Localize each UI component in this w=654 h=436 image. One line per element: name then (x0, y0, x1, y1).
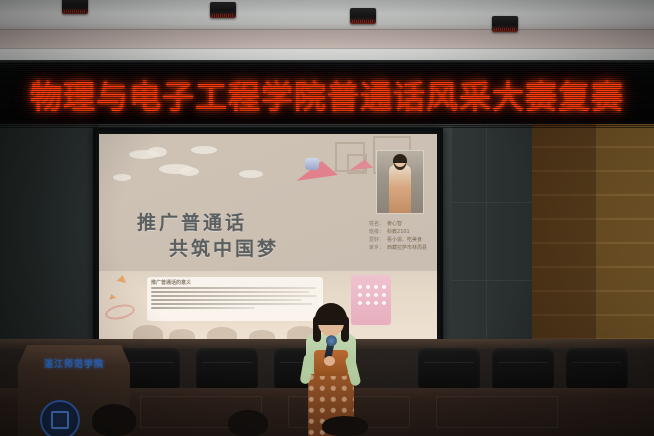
info-value: 看小说、吃美食 (387, 236, 422, 244)
info-row: 爱好： 看小说、吃美食 (369, 236, 437, 244)
info-label: 姓名： (369, 220, 384, 228)
photo-hair (393, 154, 407, 163)
star-icon (108, 293, 116, 300)
ceiling-speaker-icon (350, 8, 376, 24)
presenter-photo (376, 150, 424, 214)
projection-screen-frame: 推广普通话 共筑中国梦 姓名： 姜心智 班级： 科教2101 爱好： 看小说、吃… (93, 128, 443, 349)
star-icon (116, 274, 127, 283)
chair (418, 348, 480, 388)
cloud-decoration (147, 147, 167, 157)
info-value: 姜心智 (387, 220, 402, 228)
table-panel (436, 396, 558, 428)
info-label: 班级： (369, 228, 384, 236)
slide-title-line2: 共筑中国梦 (169, 234, 279, 261)
ceiling-speaker-icon (62, 0, 88, 14)
chair (196, 348, 258, 388)
plane-rider-figure (305, 158, 319, 170)
speaker-hand (324, 356, 335, 366)
led-banner-text: 物理与电子工程学院普通话风采大赛复赛 (30, 72, 624, 118)
cloud-decoration (179, 167, 199, 176)
photo-body (389, 165, 411, 213)
speaker-hair (315, 303, 347, 325)
led-banner: 物理与电子工程学院普通话风采大赛复赛 (0, 60, 654, 130)
ceiling-seam (0, 29, 654, 30)
slide-lower-panel: 推广普通话的意义 (99, 271, 437, 343)
presenter-info-block: 姓名： 姜心智 班级： 科教2101 爱好： 看小说、吃美食 家乡： 西藏拉萨市… (369, 220, 437, 252)
meaning-heading: 推广普通话的意义 (151, 279, 191, 286)
ceiling-band (0, 30, 654, 48)
info-label: 家乡： (369, 244, 384, 252)
ceiling (0, 0, 654, 62)
school-emblem-icon (40, 400, 80, 436)
info-label: 爱好： (369, 236, 384, 244)
projection-screen: 推广普通话 共筑中国梦 姓名： 姜心智 班级： 科教2101 爱好： 看小说、吃… (99, 134, 437, 343)
info-row: 家乡： 西藏拉萨市林周县 (369, 244, 437, 252)
audience-head (228, 410, 268, 436)
screenshot-root: 物理与电子工程学院普通话风采大赛复赛 (0, 0, 654, 436)
info-value: 西藏拉萨市林周县 (387, 244, 427, 252)
audience-head (322, 416, 368, 436)
chair (492, 348, 554, 388)
cloud-decoration (113, 174, 131, 181)
ceiling-seam (0, 48, 654, 49)
scribble-decoration (104, 302, 136, 322)
podium-institution-text: 湛江师范学院 (34, 357, 114, 370)
meaning-body-lines (151, 287, 319, 311)
cloud-decoration (191, 146, 217, 154)
info-row: 班级： 科教2101 (369, 228, 437, 236)
audience-head (92, 404, 136, 436)
meaning-text-card: 推广普通话的意义 (147, 277, 323, 321)
wall-panel-grid (452, 124, 532, 339)
wall-panel-left (0, 124, 98, 354)
info-row: 姓名： 姜心智 (369, 220, 437, 228)
illustration-pattern (356, 283, 386, 305)
ceiling-speaker-icon (210, 2, 236, 18)
wood-panel-shading (532, 124, 654, 339)
slide-title-line1: 推广普通话 (137, 208, 247, 235)
info-value: 科教2101 (387, 228, 410, 236)
chair (566, 348, 628, 388)
ceiling-speaker-icon (492, 16, 518, 32)
cloud-decoration (239, 170, 263, 178)
